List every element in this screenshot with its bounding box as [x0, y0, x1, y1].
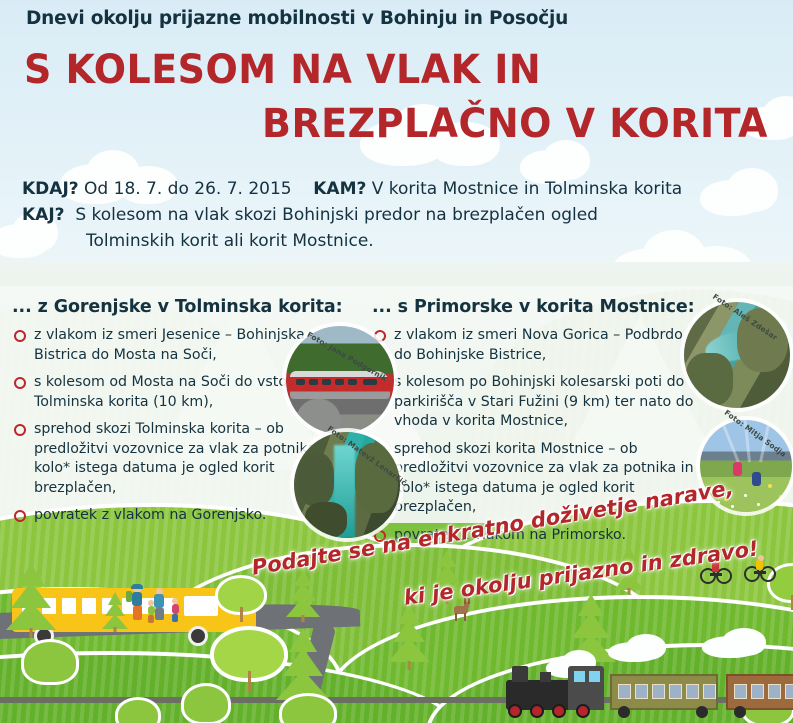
- locomotive-wheel: [530, 704, 544, 718]
- poster-title-line2: BREZPLAČNO V KORITA: [262, 102, 768, 146]
- locomotive-chimney: [512, 666, 528, 682]
- poster-title-line1: S KOLESOM NA VLAK IN: [24, 48, 541, 92]
- photo-biker: [733, 462, 742, 476]
- when-label: KDAJ?: [22, 179, 79, 199]
- bus-wheel: [188, 626, 208, 646]
- deciduous-tree: [214, 630, 284, 692]
- bush: [184, 686, 228, 722]
- train-wagon: [610, 674, 718, 710]
- locomotive-window: [574, 671, 585, 682]
- list-item: povratek z vlakom na Gorenjsko.: [12, 506, 342, 526]
- locomotive-wheel: [552, 704, 566, 718]
- locomotive-wheel: [576, 704, 590, 718]
- conifer-tree: [102, 592, 128, 632]
- cyclist-icon: [744, 560, 778, 582]
- hiker-adult-1: [130, 586, 144, 622]
- where-value: V korita Mostnice in Tolminska korita: [372, 179, 682, 199]
- photo-biker: [752, 472, 761, 486]
- train-wagon: [726, 674, 793, 710]
- conifer-tree: [286, 570, 320, 622]
- bus-window: [82, 598, 96, 614]
- mostnice-photo: [684, 302, 790, 408]
- hiker-child-2: [170, 598, 180, 622]
- list-item: z vlakom iz smeri Nova Gorica – Podbrdo …: [372, 326, 702, 365]
- info-row-what-2: Tolminskih korit ali korit Mostnice.: [22, 228, 782, 254]
- info-row-when-where: KDAJ? Od 18. 7. do 26. 7. 2015 KAM? V ko…: [22, 176, 782, 202]
- wagon-wheel: [618, 706, 630, 718]
- deer-icon: [452, 600, 470, 622]
- tolminska-photo: [294, 432, 400, 538]
- bush: [24, 642, 76, 682]
- conifer-tree: [388, 604, 430, 670]
- locomotive-wheel: [508, 704, 522, 718]
- what-label: KAJ?: [22, 205, 65, 225]
- hiker-child-1: [146, 600, 156, 622]
- list-item: s kolesom po Bohinjski kolesarski poti d…: [372, 373, 702, 432]
- poster-kicker: Dnevi okolju prijazne mobilnosti v Bohin…: [26, 8, 568, 29]
- locomotive-window: [589, 671, 600, 682]
- steam-train: [506, 662, 793, 720]
- column-heading: ... s Primorske v korita Mostnice:: [372, 296, 702, 318]
- info-block: KDAJ? Od 18. 7. do 26. 7. 2015 KAM? V ko…: [22, 176, 782, 254]
- info-row-what: KAJ? S kolesom na vlak skozi Bohinjski p…: [22, 202, 782, 228]
- when-value: Od 18. 7. do 26. 7. 2015: [84, 179, 292, 199]
- wagon-wheel: [734, 706, 746, 718]
- bus-window: [62, 598, 76, 614]
- poster-root: Dnevi okolju prijazne mobilnosti v Bohin…: [0, 0, 793, 723]
- hiker-family: [130, 586, 190, 626]
- wagon-wheel: [696, 706, 708, 718]
- deciduous-tree: [218, 578, 264, 622]
- locomotive-dome: [540, 672, 551, 682]
- bush: [282, 696, 334, 723]
- where-label: KAM?: [313, 179, 366, 199]
- column-heading: ... z Gorenjske v Tolminska korita:: [12, 296, 342, 318]
- conifer-tree: [6, 564, 56, 638]
- what-value: S kolesom na vlak skozi Bohinjski predor…: [75, 205, 598, 225]
- bush: [118, 700, 158, 723]
